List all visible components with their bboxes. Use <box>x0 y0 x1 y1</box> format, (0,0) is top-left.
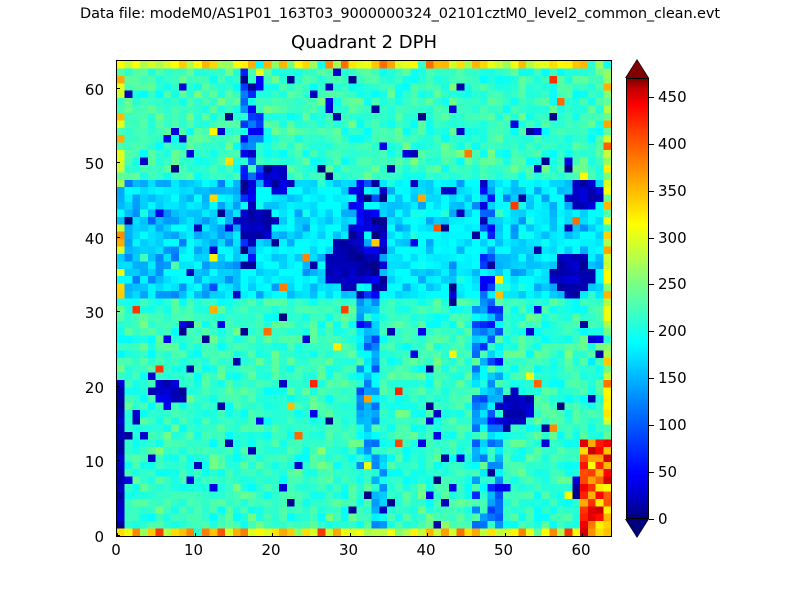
colorbar-tick-mark <box>649 472 654 473</box>
colorbar-tick-mark <box>649 378 654 379</box>
y-tick-mark <box>116 460 120 461</box>
colorbar-tick-mark <box>649 97 654 98</box>
colorbar-under-arrow-icon <box>626 519 648 537</box>
heatmap-axes[interactable] <box>116 60 612 537</box>
y-tick-mark <box>116 386 120 387</box>
x-tick-mark <box>505 533 506 537</box>
y-tick-mark <box>116 162 120 163</box>
colorbar-over-arrow-icon <box>626 60 648 78</box>
x-tick-label: 10 <box>184 541 203 559</box>
colorbar-tick-mark <box>649 425 654 426</box>
colorbar-tick-mark <box>649 284 654 285</box>
colorbar-tick-mark <box>649 238 654 239</box>
data-file-caption: Data file: modeM0/AS1P01_163T03_90000003… <box>0 6 800 22</box>
colorbar-tick-label: 350 <box>658 182 687 200</box>
y-tick-label: 20 <box>0 379 104 397</box>
colorbar-tick-label: 50 <box>658 463 677 481</box>
y-tick-label: 60 <box>0 81 104 99</box>
colorbar-tick-label: 200 <box>658 322 687 340</box>
chart-title: Quadrant 2 DPH <box>116 32 612 53</box>
x-tick-label: 30 <box>339 541 358 559</box>
x-tick-label: 0 <box>111 541 121 559</box>
x-tick-label: 50 <box>494 541 513 559</box>
x-tick-label: 60 <box>571 541 590 559</box>
y-tick-label: 50 <box>0 155 104 173</box>
x-tick-label: 20 <box>261 541 280 559</box>
y-tick-label: 40 <box>0 230 104 248</box>
colorbar-gradient <box>626 78 649 519</box>
colorbar-tick-label: 400 <box>658 135 687 153</box>
y-tick-label: 0 <box>0 528 104 546</box>
colorbar-tick-label: 450 <box>658 88 687 106</box>
y-tick-mark <box>116 535 120 536</box>
colorbar-tick-mark <box>649 519 654 520</box>
colorbar-tick-label: 100 <box>658 416 687 434</box>
colorbar-tick-label: 150 <box>658 369 687 387</box>
x-tick-mark <box>195 533 196 537</box>
colorbar-tick-mark <box>649 331 654 332</box>
colorbar-tick-mark <box>649 144 654 145</box>
x-tick-mark <box>272 533 273 537</box>
y-tick-mark <box>116 311 120 312</box>
x-tick-mark <box>582 533 583 537</box>
x-tick-mark <box>350 533 351 537</box>
colorbar-tick-label: 250 <box>658 275 687 293</box>
colorbar-tick-mark <box>649 191 654 192</box>
figure-canvas: Data file: modeM0/AS1P01_163T03_90000003… <box>0 0 800 600</box>
x-tick-label: 40 <box>416 541 435 559</box>
heatmap-image[interactable] <box>117 61 611 536</box>
x-tick-mark <box>427 533 428 537</box>
y-tick-mark <box>116 237 120 238</box>
colorbar-tick-label: 300 <box>658 229 687 247</box>
y-tick-mark <box>116 88 120 89</box>
y-tick-label: 10 <box>0 453 104 471</box>
colorbar[interactable]: 050100150200250300350400450 <box>626 60 649 537</box>
y-tick-label: 30 <box>0 304 104 322</box>
colorbar-tick-label: 0 <box>658 510 668 528</box>
